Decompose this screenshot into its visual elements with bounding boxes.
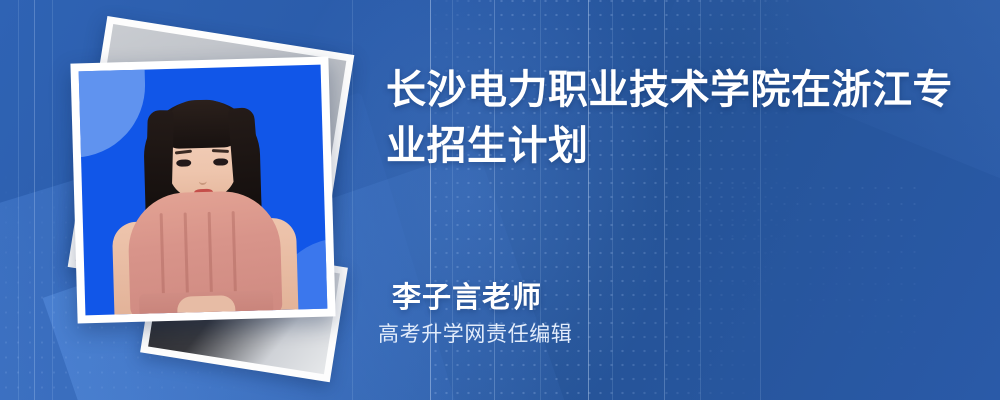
background-vertical-line: [34, 0, 35, 400]
author-name: 李子言老师: [392, 274, 542, 316]
page-title: 长沙电力职业技术学院在浙江专业招生计划: [386, 62, 956, 174]
portrait-hands: [177, 295, 236, 315]
portrait-nose: [199, 176, 207, 184]
article-cover-banner: 长沙电力职业技术学院在浙江专业招生计划 李子言老师 高考升学网责任编辑: [0, 0, 1000, 400]
portrait-eyebrow-right: [212, 149, 229, 153]
author-photo: [79, 65, 328, 316]
portrait-illustration: [79, 65, 328, 316]
background-vertical-line: [18, 0, 19, 400]
author-photo-stack: [40, 28, 350, 364]
author-photo-frame: [70, 56, 335, 323]
banner-text-block: 长沙电力职业技术学院在浙江专业招生计划 李子言老师 高考升学网责任编辑: [386, 0, 966, 400]
author-role: 高考升学网责任编辑: [378, 318, 572, 348]
